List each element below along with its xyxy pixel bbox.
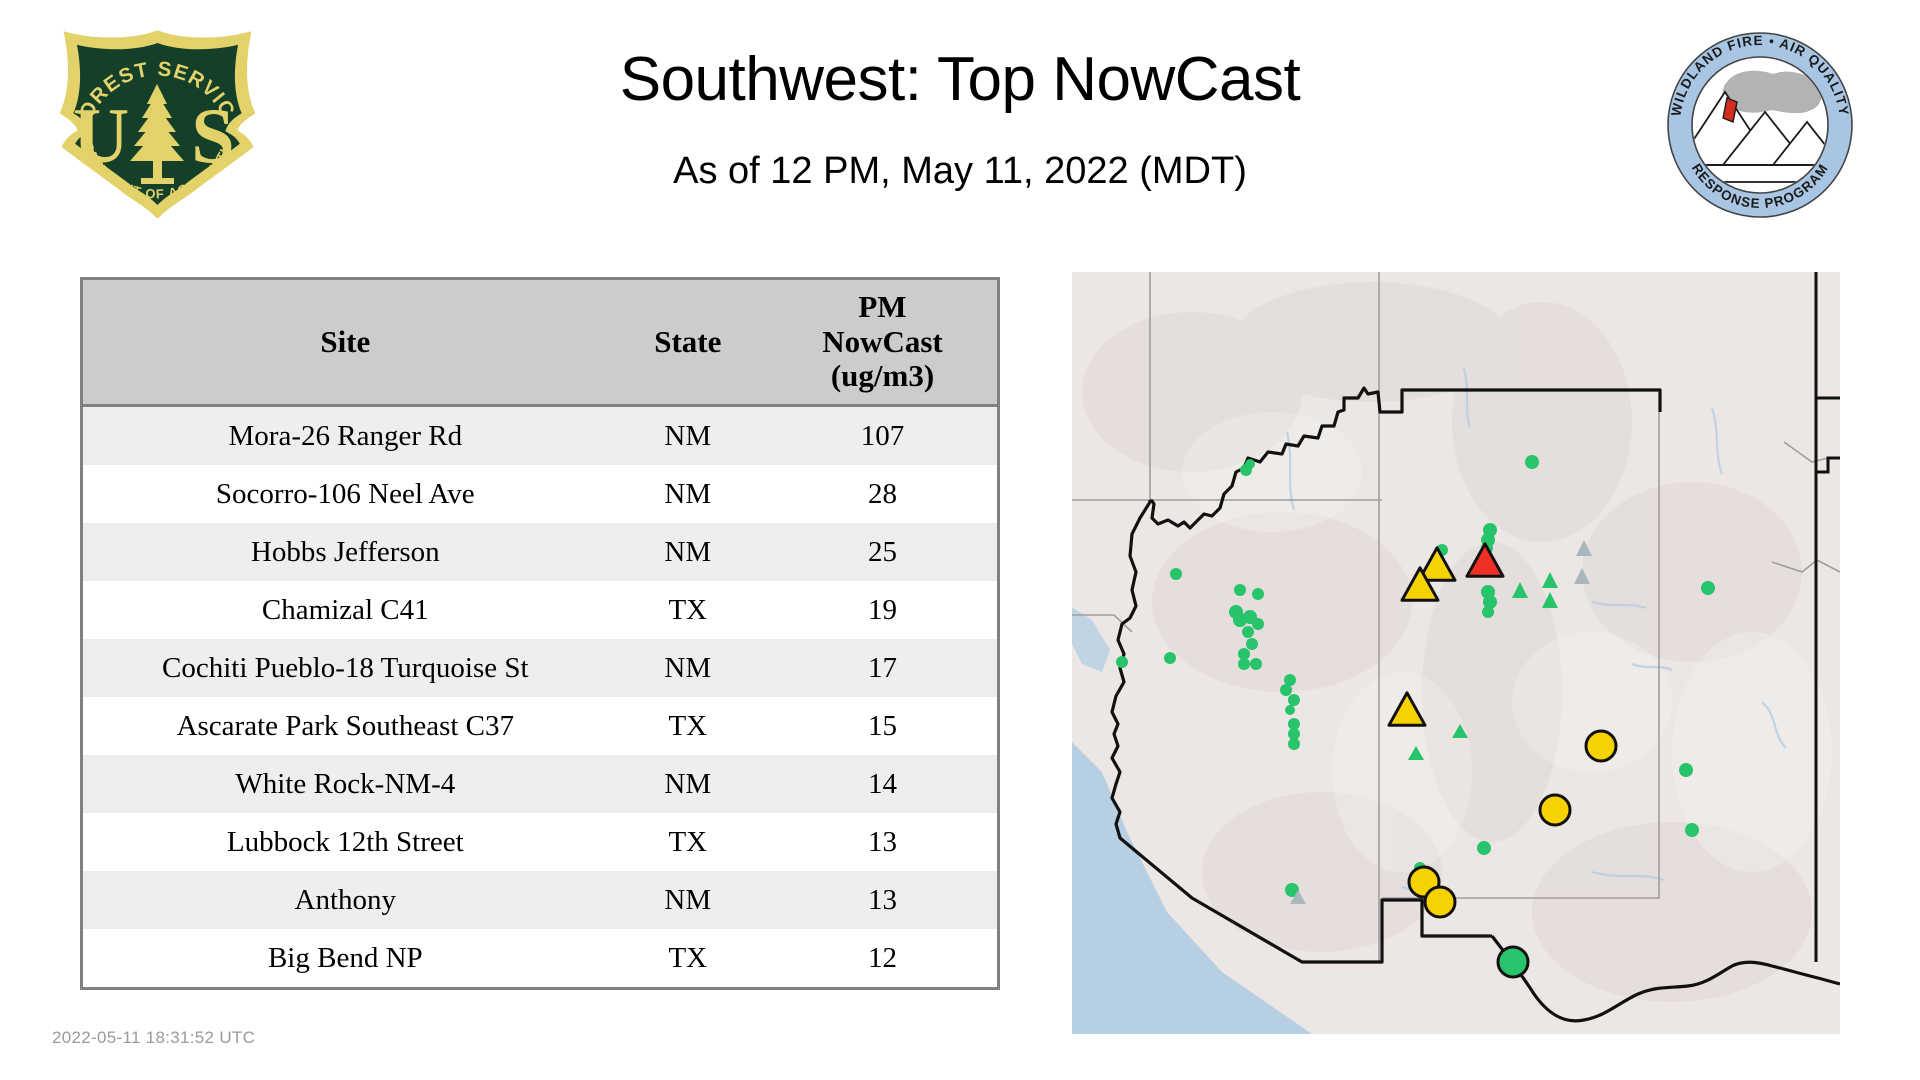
table-header: Site State PM NowCast (ug/m3) (83, 280, 997, 406)
cell-pm-nowcast: 19 (768, 581, 997, 639)
shield-letter-u: U (73, 92, 129, 179)
column-header-pm-nowcast: PM NowCast (ug/m3) (768, 280, 997, 406)
column-header-state: State (608, 280, 768, 406)
table-row: Big Bend NPTX12 (83, 929, 997, 987)
table-row: Ascarate Park Southeast C37TX15 (83, 697, 997, 755)
cell-pm-nowcast: 13 (768, 813, 997, 871)
map-canvas (1072, 272, 1840, 1034)
cell-pm-nowcast: 15 (768, 697, 997, 755)
generation-timestamp: 2022-05-11 18:31:52 UTC (52, 1028, 255, 1048)
cell-pm-nowcast: 28 (768, 465, 997, 523)
cell-site: Socorro-106 Neel Ave (83, 465, 608, 523)
table-row: Chamizal C41TX19 (83, 581, 997, 639)
column-header-site-label: Site (320, 324, 370, 359)
cell-site: Big Bend NP (83, 929, 608, 987)
cell-pm-nowcast: 17 (768, 639, 997, 697)
cell-state: NM (608, 871, 768, 929)
monitor-marker-moderate[interactable] (1540, 795, 1570, 825)
cell-site: Lubbock 12th Street (83, 813, 608, 871)
monitor-marker-moderate[interactable] (1425, 887, 1455, 917)
column-header-pm-line2: NowCast (772, 325, 993, 360)
cell-state: NM (608, 406, 768, 466)
cell-state: TX (608, 581, 768, 639)
column-header-pm-line1: PM (772, 290, 993, 325)
table-header-row: Site State PM NowCast (ug/m3) (83, 280, 997, 406)
cell-pm-nowcast: 25 (768, 523, 997, 581)
table-row: Cochiti Pueblo-18 Turquoise StNM17 (83, 639, 997, 697)
cell-state: NM (608, 523, 768, 581)
cell-pm-nowcast: 12 (768, 929, 997, 987)
cell-state: NM (608, 639, 768, 697)
page-subtitle: As of 12 PM, May 11, 2022 (MDT) (260, 150, 1660, 193)
air-quality-map[interactable]: Air Quality Index HazardousVery Unhealth… (1072, 272, 1840, 1034)
cell-state: NM (608, 465, 768, 523)
table-body: Mora-26 Ranger RdNM107Socorro-106 Neel A… (83, 406, 997, 988)
table-row: Lubbock 12th StreetTX13 (83, 813, 997, 871)
nowcast-table: Site State PM NowCast (ug/m3) Mora-26 Ra… (83, 280, 997, 987)
smoke-plume (1723, 71, 1822, 113)
cell-site: Mora-26 Ranger Rd (83, 406, 608, 466)
cell-site: Cochiti Pueblo-18 Turquoise St (83, 639, 608, 697)
table-row: Mora-26 Ranger RdNM107 (83, 406, 997, 466)
cell-state: TX (608, 929, 768, 987)
wildland-fire-air-quality-seal-logo: WILDLAND FIRE • AIR QUALITY RESPONSE PRO… (1665, 30, 1855, 220)
usda-forest-service-shield-logo: FOREST SERVICE DEPARTMENT OF AGRICULTURE… (55, 28, 260, 218)
cell-site: Anthony (83, 871, 608, 929)
monitor-marker-moderate[interactable] (1586, 731, 1616, 761)
cell-state: TX (608, 813, 768, 871)
table-row: Socorro-106 Neel AveNM28 (83, 465, 997, 523)
column-header-state-label: State (654, 324, 721, 359)
cell-pm-nowcast: 13 (768, 871, 997, 929)
nowcast-table-container: Site State PM NowCast (ug/m3) Mora-26 Ra… (80, 277, 1000, 990)
page-header: FOREST SERVICE DEPARTMENT OF AGRICULTURE… (0, 0, 1920, 225)
table-row: White Rock-NM-4NM14 (83, 755, 997, 813)
cell-site: White Rock-NM-4 (83, 755, 608, 813)
cell-site: Hobbs Jefferson (83, 523, 608, 581)
table-row: Hobbs JeffersonNM25 (83, 523, 997, 581)
monitor-marker-good[interactable] (1498, 947, 1528, 977)
cell-state: NM (608, 755, 768, 813)
cell-site: Ascarate Park Southeast C37 (83, 697, 608, 755)
table-row: AnthonyNM13 (83, 871, 997, 929)
column-header-pm-line3: (ug/m3) (772, 359, 993, 394)
shield-letter-s: S (191, 92, 234, 179)
cell-pm-nowcast: 14 (768, 755, 997, 813)
cell-pm-nowcast: 107 (768, 406, 997, 466)
cell-site: Chamizal C41 (83, 581, 608, 639)
cell-state: TX (608, 697, 768, 755)
column-header-site: Site (83, 280, 608, 406)
page-title: Southwest: Top NowCast (260, 44, 1660, 115)
